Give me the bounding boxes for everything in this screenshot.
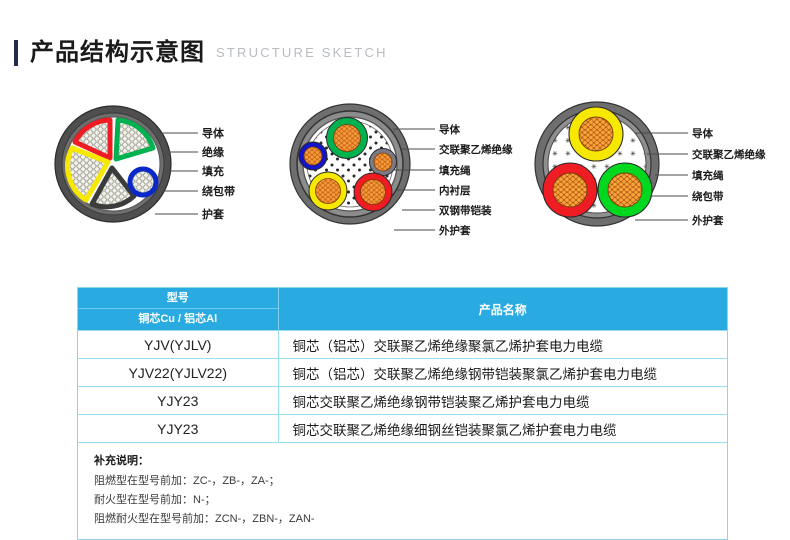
cable-diagram-1: 导体 绝缘 填充 绕包带 护套 [48,96,288,266]
cell-name: 铜芯交联聚乙烯绝缘细钢丝铠装聚氯乙烯护套电力电缆 [278,415,727,443]
cable-sector-4core-svg: 导体 绝缘 填充 绕包带 护套 [48,96,288,266]
label-3: 绕包带 [202,184,235,198]
label-1: 交联聚乙烯绝缘 [692,148,766,161]
cable-diagram-2: 导体 交联聚乙烯绝缘 填充绳 内衬层 双钢带铠装 外护套 [285,96,525,266]
table-body: YJV(YJLV) 铜芯（铝芯）交联聚乙烯绝缘聚氯乙烯护套电力电缆 YJV22(… [78,331,727,540]
table-header-row: 型号 铜芯Cu / 铝芯Al 产品名称 [78,288,727,331]
cell-model: YJY23 [78,415,278,443]
diagram-strip: 导体 绝缘 填充 绕包带 护套 [0,96,790,266]
table-row: YJY23 铜芯交联聚乙烯绝缘钢带铠装聚乙烯护套电力电缆 [78,387,727,415]
label-1: 绝缘 [202,145,224,159]
spec-table: 型号 铜芯Cu / 铝芯Al 产品名称 YJV(YJLV) 铜芯（铝芯）交联聚乙… [78,288,727,539]
cable-armoured-5core-svg: 导体 交联聚乙烯绝缘 填充绳 内衬层 双钢带铠装 外护套 [285,96,525,266]
notes-line-1: 耐火型在型号前加：N-； [94,491,727,510]
header-model-line1: 型号 [78,288,278,309]
label-0: 导体 [202,126,225,140]
diagram-3-labels: 导体 交联聚乙烯绝缘 填充绳 绕包带 外护套 [691,127,766,227]
label-3: 内衬层 [439,184,471,197]
table-row: YJY23 铜芯交联聚乙烯绝缘细钢丝铠装聚氯乙烯护套电力电缆 [78,415,727,443]
notes-line-2: 阻燃耐火型在型号前加：ZCN-，ZBN-，ZAN- [94,510,727,529]
page-title-cn: 产品结构示意图 [30,40,205,66]
cell-model: YJV(YJLV) [78,331,278,359]
table-notes-row: 补充说明： 阻燃型在型号前加：ZC-，ZB-，ZA-； 耐火型在型号前加：N-；… [78,443,727,540]
label-4: 护套 [202,207,225,221]
notes-line-0: 阻燃型在型号前加：ZC-，ZB-，ZA-； [94,472,727,491]
cable-3core-svg: ✳ [525,96,785,266]
label-3: 绕包带 [692,190,724,203]
cell-name: 铜芯（铝芯）交联聚乙烯绝缘聚氯乙烯护套电力电缆 [278,331,727,359]
notes-cell: 补充说明： 阻燃型在型号前加：ZC-，ZB-，ZA-； 耐火型在型号前加：N-；… [78,443,727,540]
label-4: 双钢带铠装 [438,204,492,217]
cell-name: 铜芯（铝芯）交联聚乙烯绝缘钢带铠装聚氯乙烯护套电力电缆 [278,359,727,387]
label-2: 填充绳 [439,164,471,177]
label-2: 填充绳 [692,169,724,182]
cell-model: YJY23 [78,387,278,415]
table-row: YJV22(YJLV22) 铜芯（铝芯）交联聚乙烯绝缘钢带铠装聚氯乙烯护套电力电… [78,359,727,387]
label-0: 导体 [439,123,460,136]
label-4: 外护套 [691,214,724,227]
diagram-1-labels: 导体 绝缘 填充 绕包带 护套 [202,126,235,221]
label-5: 外护套 [438,224,471,237]
spec-table-wrapper: 型号 铜芯Cu / 铝芯Al 产品名称 YJV(YJLV) 铜芯（铝芯）交联聚乙… [77,287,728,540]
cell-name: 铜芯交联聚乙烯绝缘钢带铠装聚乙烯护套电力电缆 [278,387,727,415]
header-model-cell: 型号 铜芯Cu / 铝芯Al [78,288,278,331]
page-title-en: STRUCTURE SKETCH [216,40,388,66]
structure-sketch-page: 产品结构示意图 STRUCTURE SKETCH [0,0,790,538]
label-1: 交联聚乙烯绝缘 [439,143,513,156]
title-accent-bar [14,40,18,66]
page-title: 产品结构示意图 STRUCTURE SKETCH [0,36,790,70]
label-0: 导体 [692,127,713,140]
label-2: 填充 [202,164,224,178]
diagram-2-labels: 导体 交联聚乙烯绝缘 填充绳 内衬层 双钢带铠装 外护套 [438,123,513,237]
table-row: YJV(YJLV) 铜芯（铝芯）交联聚乙烯绝缘聚氯乙烯护套电力电缆 [78,331,727,359]
cell-model: YJV22(YJLV22) [78,359,278,387]
notes-title: 补充说明： [94,452,727,471]
cable-diagram-3: ✳ [525,96,785,266]
header-product-name: 产品名称 [278,288,727,331]
header-model-line2: 铜芯Cu / 铝芯Al [78,309,278,330]
round-core-blue [130,169,156,195]
